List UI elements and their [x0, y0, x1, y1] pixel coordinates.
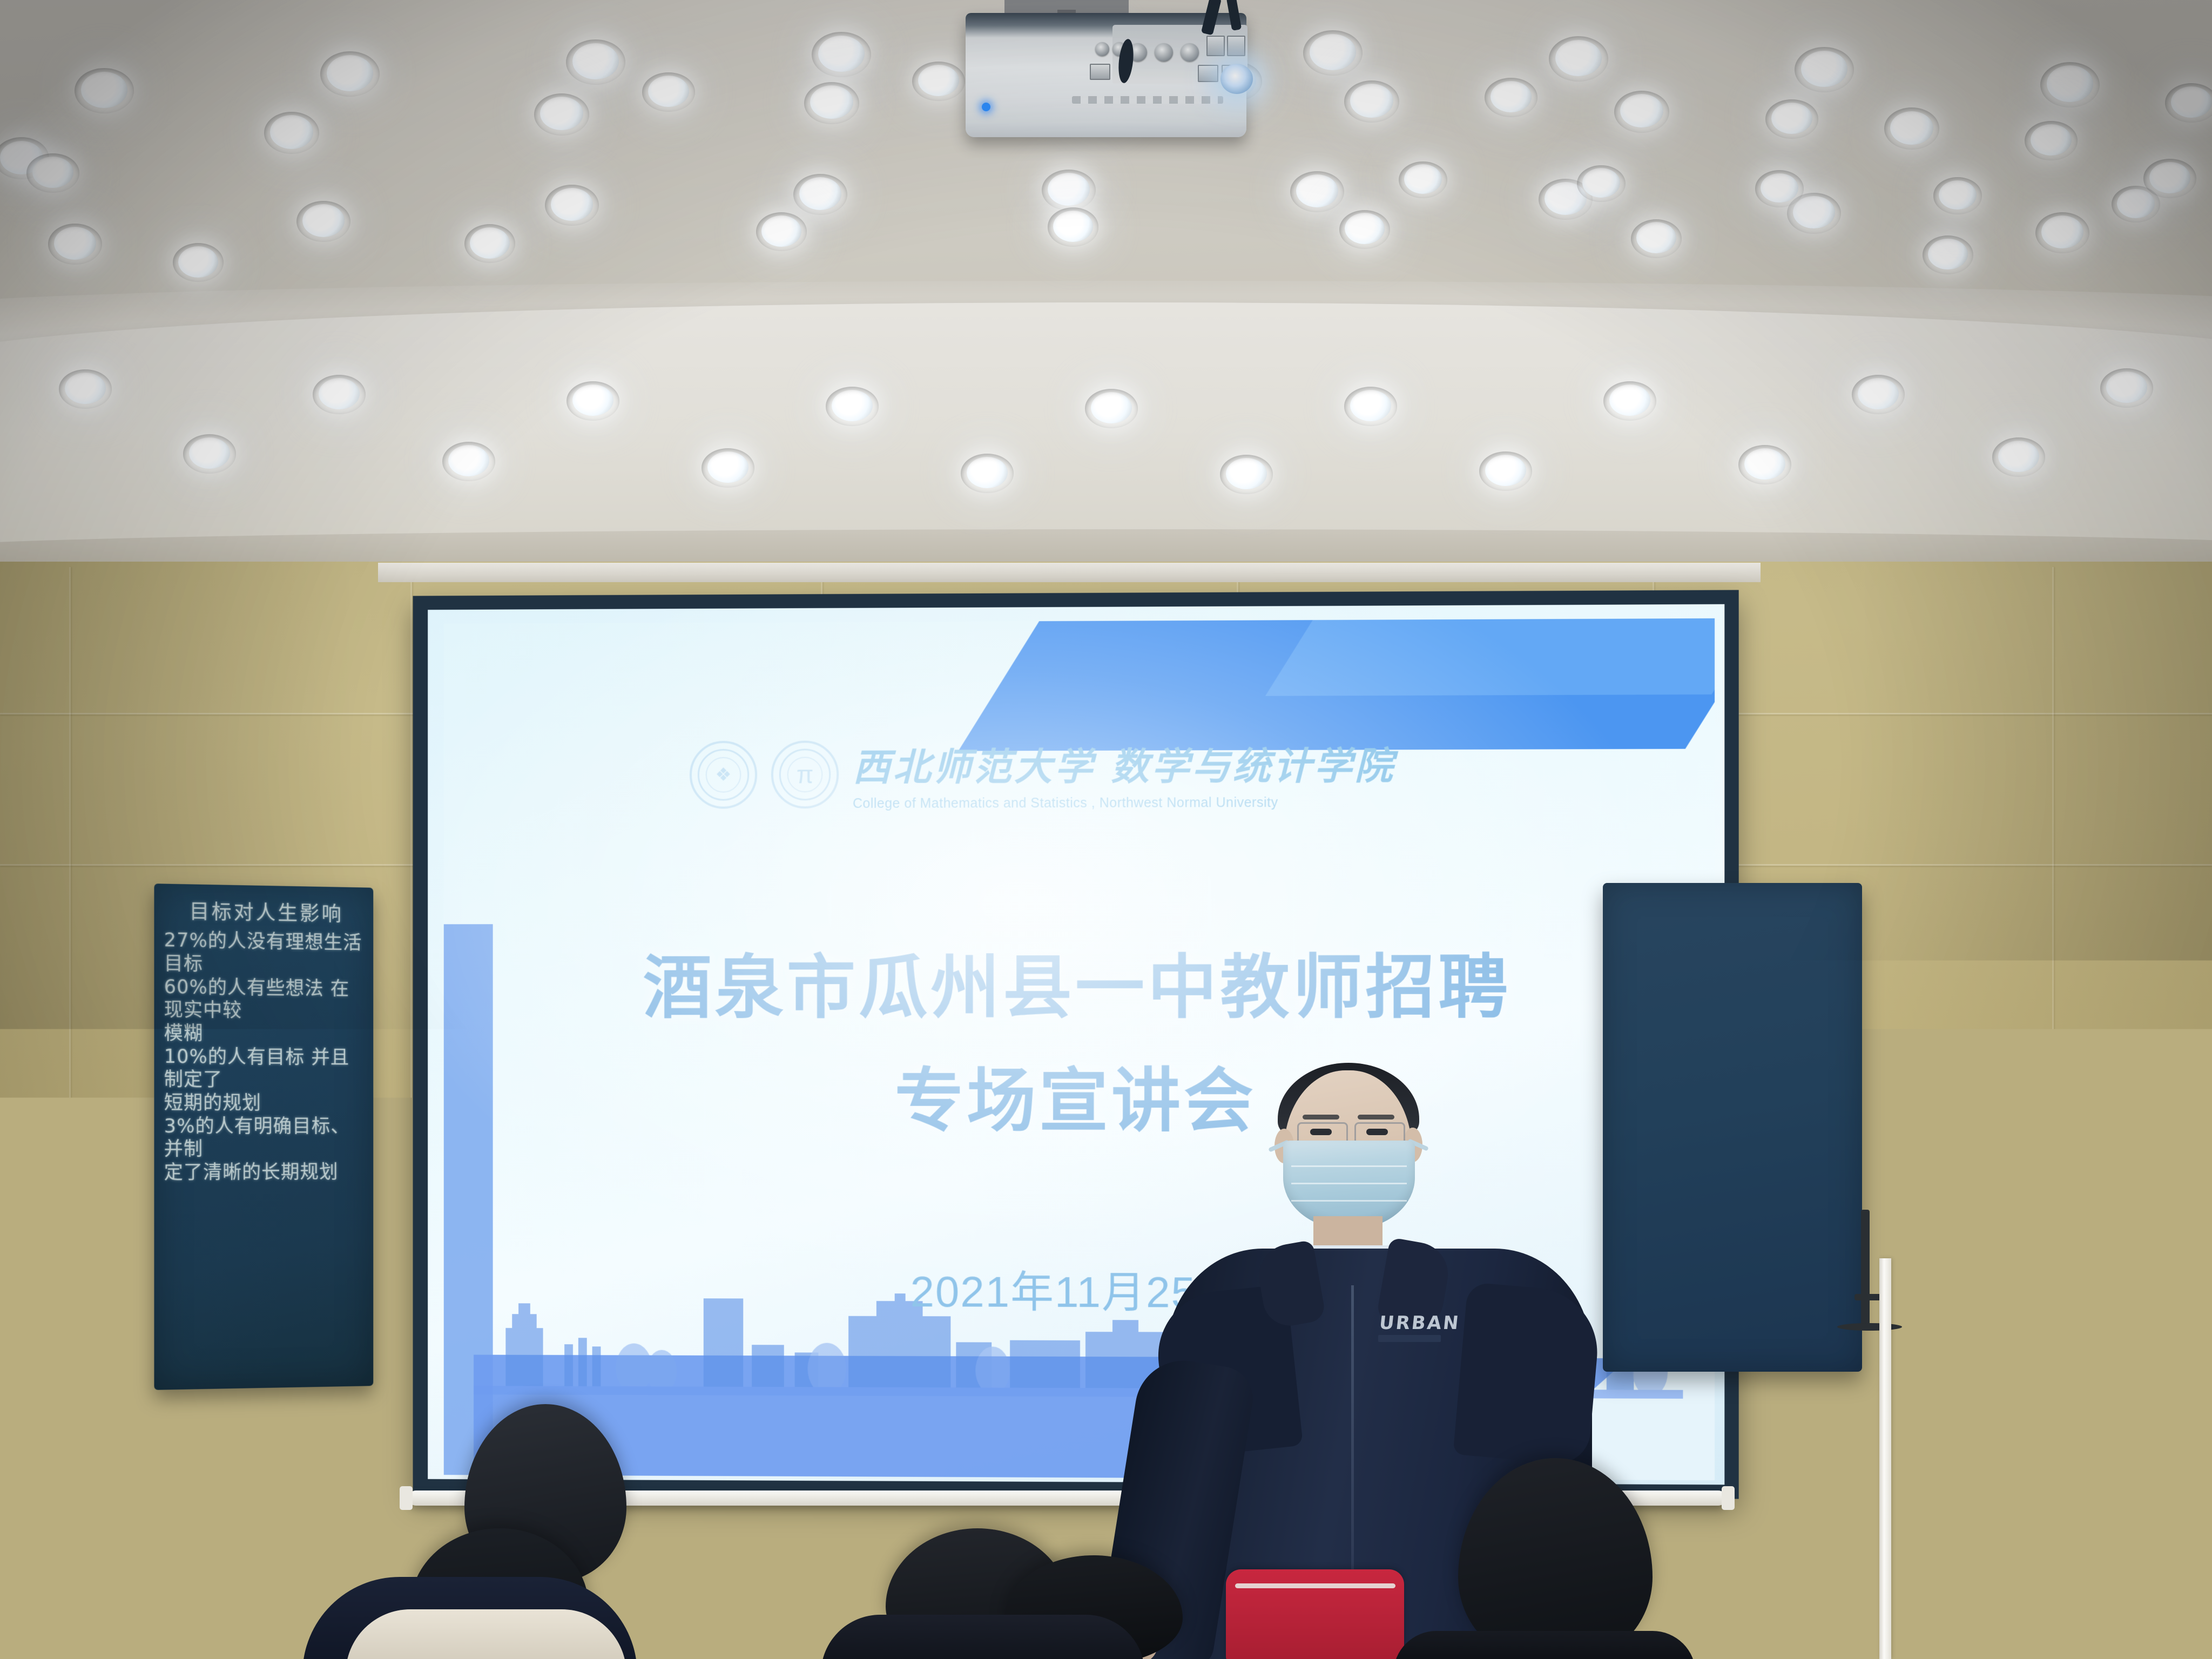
chalkboard-line: 短期的规划	[164, 1091, 368, 1115]
projector-lens	[1220, 64, 1253, 94]
wall-cable	[1861, 1210, 1870, 1328]
downlight-icon	[2117, 189, 2155, 219]
chalkboard-line: 模糊	[164, 1022, 368, 1047]
downlight-icon	[1890, 111, 1933, 145]
downlight-icon	[1928, 239, 1968, 270]
jacket-logo-bar	[1378, 1335, 1441, 1342]
downlight-icon	[1636, 222, 1676, 253]
projector-port-square	[1090, 64, 1110, 80]
downlight-icon	[1801, 51, 1847, 87]
downlight-icon	[302, 204, 345, 237]
wall-cable	[1837, 1323, 1902, 1331]
lecture-hall-photo: 目标对人生影响 27%的人没有理想生活目标60%的人有些想法 在现实中较模糊10…	[0, 0, 2212, 1659]
downlight-icon	[540, 97, 583, 130]
downlight-icon	[1048, 173, 1090, 206]
projector-port	[1181, 43, 1199, 62]
downlight-icon	[1404, 164, 1442, 194]
slide-logo-header: ❖ π 西北师范大学 数学与统计学院 College of Mathematic…	[690, 736, 1395, 812]
downlight-icon	[327, 55, 373, 91]
downlight-icon	[1771, 103, 1812, 134]
presenter-eye-right	[1366, 1129, 1388, 1135]
chalkboard-line: 10%的人有目标 并且制定了	[164, 1045, 368, 1092]
floor-stand-pole	[1879, 1258, 1891, 1659]
chalkboard-text: 目标对人生影响 27%的人没有理想生活目标60%的人有些想法 在现实中较模糊10…	[164, 899, 368, 1185]
projector-port-square	[1206, 36, 1225, 56]
chalkboard-line: 60%的人有些想法 在现实中较	[164, 975, 368, 1023]
downlight-icon	[54, 227, 96, 260]
downlight-icon	[799, 177, 841, 210]
downlight-icon	[1350, 84, 1393, 117]
downlight-icon	[810, 85, 853, 119]
presenter-eye-left	[1310, 1129, 1332, 1135]
downlight-icon	[1620, 94, 1663, 127]
wall-tile-line	[2052, 567, 2054, 1659]
downlight-icon	[65, 373, 106, 404]
screen-housing	[378, 563, 1761, 582]
downlight-icon	[470, 227, 510, 259]
downlight-icon	[270, 115, 313, 149]
downlight-icon	[2149, 162, 2190, 193]
university-seal-icon: ❖	[690, 741, 757, 809]
downlight-icon	[572, 43, 619, 79]
downlight-icon	[648, 76, 689, 107]
downlight-icon	[761, 215, 801, 247]
downlight-icon	[832, 390, 873, 421]
projector-vent	[1072, 96, 1223, 104]
jacket-logo-text: URBAN	[1378, 1312, 1461, 1334]
downlight-icon	[1793, 196, 1835, 229]
downlight-icon	[572, 385, 613, 416]
slide-university-name: 西北师范大学 数学与统计学院	[853, 736, 1395, 792]
downlight-icon	[1858, 378, 1899, 409]
downlight-icon	[1310, 34, 1356, 70]
downlight-icon	[1485, 455, 1526, 486]
chalkboard-left: 目标对人生影响 27%的人没有理想生活目标60%的人有些想法 在现实中较模糊10…	[154, 884, 373, 1390]
downlight-icon	[448, 445, 489, 476]
downlight-icon	[918, 65, 959, 96]
slide-title-line1: 酒泉市瓜州县一中教师招聘	[444, 945, 1715, 1031]
slide-university-name-en: College of Mathematics and Statistics , …	[853, 795, 1395, 812]
screen-roller-cap-left	[400, 1486, 413, 1510]
audience-body	[821, 1615, 1145, 1659]
downlight-icon	[1609, 385, 1650, 416]
downlight-icon	[707, 451, 748, 483]
downlight-icon	[319, 378, 360, 409]
chair-back	[1226, 1569, 1404, 1659]
downlight-icon	[1350, 390, 1391, 421]
projector-power-led-icon	[982, 103, 990, 111]
downlight-icon	[1761, 173, 1798, 203]
downlight-icon	[1226, 458, 1267, 489]
seal-pi-glyph: π	[797, 760, 814, 789]
downlight-icon	[178, 246, 218, 278]
downlight-icon	[2041, 215, 2083, 248]
downlight-icon	[551, 188, 593, 221]
presenter-eyebrow-right	[1358, 1115, 1394, 1120]
downlight-icon	[1582, 168, 1620, 198]
cabinet-label	[2115, 1324, 2163, 1344]
downlight-icon	[1345, 213, 1385, 244]
wall-tile-line	[69, 567, 71, 1659]
projector-port-lan	[1198, 65, 1218, 82]
downlight-icon	[2031, 124, 2072, 156]
seal-inner-glyph: ❖	[715, 764, 731, 786]
projector-port-square	[1227, 36, 1245, 56]
projector-port	[1155, 43, 1173, 62]
downlight-icon	[1296, 174, 1338, 207]
downlight-icon	[1491, 81, 1532, 112]
downlight-icon	[1998, 441, 2039, 472]
audience-body	[1393, 1631, 1696, 1659]
chalkboard-line: 27%的人没有理想生活目标	[164, 929, 368, 978]
cabinet-vent	[2093, 1465, 2114, 1503]
slide-shape-top-right-light	[1265, 618, 1715, 696]
downlight-icon	[1744, 448, 1785, 480]
downlight-icon	[81, 72, 127, 108]
presenter-eyebrow-left	[1303, 1115, 1339, 1120]
downlight-icon	[2106, 372, 2147, 403]
downlight-icon	[1053, 211, 1093, 242]
downlight-icon	[189, 437, 230, 469]
downlight-icon	[1939, 180, 1977, 210]
audience-body	[1804, 1626, 2085, 1659]
downlight-icon	[967, 457, 1008, 488]
college-seal-icon: π	[771, 740, 839, 808]
chalkboard-line: 3%的人有明确目标、并制	[164, 1115, 368, 1161]
downlight-icon	[1091, 392, 1132, 423]
chalkboard-right	[1603, 883, 1862, 1372]
downlight-icon	[2047, 65, 2093, 102]
downlight-icon	[818, 36, 865, 72]
projector-port	[1095, 42, 1109, 56]
chalkboard-line: 定了清晰的长期规划	[164, 1161, 368, 1185]
downlight-icon	[2171, 86, 2212, 118]
chalkboard-heading: 目标对人生影响	[164, 899, 368, 927]
audience-body	[346, 1609, 626, 1659]
downlight-icon	[32, 157, 73, 188]
screen-roller-cap-right	[1722, 1486, 1735, 1510]
downlight-icon	[1555, 40, 1602, 76]
presenter-shoulder-right	[1453, 1282, 1603, 1466]
